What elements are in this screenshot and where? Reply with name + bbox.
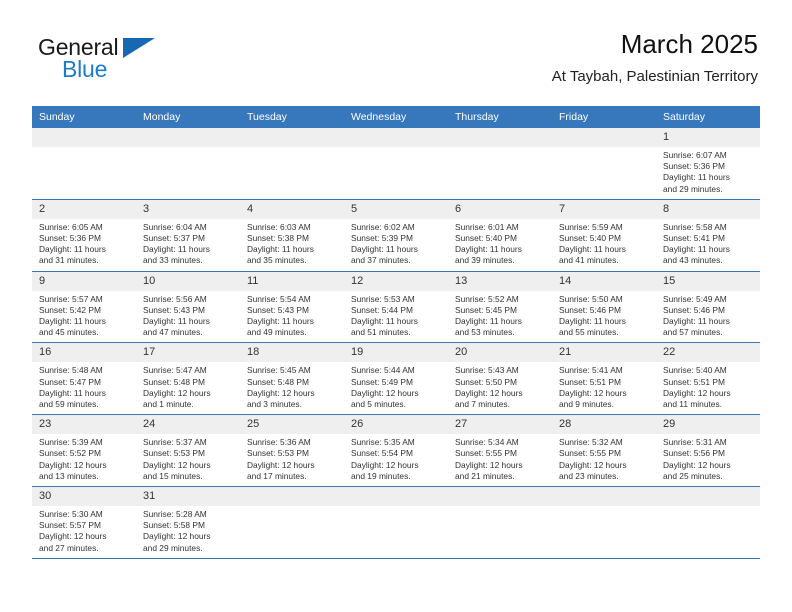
daylight-line-2: and 23 minutes. [559, 471, 650, 482]
daylight-line-1: Daylight: 11 hours [351, 244, 442, 255]
weekday-header-saturday: Saturday [656, 106, 760, 128]
page-header: General Blue March 2025 At Taybah, Pales… [34, 28, 758, 102]
day-number: 18 [240, 343, 344, 362]
day-number: 4 [240, 200, 344, 219]
daylight-line-1: Daylight: 12 hours [455, 460, 546, 471]
sunset-time: Sunset: 5:43 PM [143, 305, 234, 316]
sunrise-time: Sunrise: 5:39 AM [39, 437, 130, 448]
day-details: Sunrise: 6:02 AMSunset: 5:39 PMDaylight:… [344, 219, 448, 271]
daylight-line-2: and 31 minutes. [39, 255, 130, 266]
calendar-body: 1Sunrise: 6:07 AMSunset: 5:36 PMDaylight… [32, 128, 760, 558]
daylight-line-1: Daylight: 11 hours [39, 316, 130, 327]
daylight-line-2: and 41 minutes. [559, 255, 650, 266]
daylight-line-2: and 13 minutes. [39, 471, 130, 482]
daylight-line-1: Daylight: 11 hours [143, 316, 234, 327]
calendar-week-row: 9Sunrise: 5:57 AMSunset: 5:42 PMDaylight… [32, 271, 760, 343]
daylight-line-2: and 9 minutes. [559, 399, 650, 410]
page-title: March 2025 [552, 28, 758, 60]
day-number: 17 [136, 343, 240, 362]
sunset-time: Sunset: 5:46 PM [663, 305, 754, 316]
sunset-time: Sunset: 5:56 PM [663, 448, 754, 459]
day-number [448, 128, 552, 147]
calendar-day-cell[interactable]: 26Sunrise: 5:35 AMSunset: 5:54 PMDayligh… [344, 415, 448, 487]
day-details: Sunrise: 5:34 AMSunset: 5:55 PMDaylight:… [448, 434, 552, 486]
daylight-line-1: Daylight: 12 hours [247, 388, 338, 399]
calendar-day-cell[interactable]: 5Sunrise: 6:02 AMSunset: 5:39 PMDaylight… [344, 199, 448, 271]
sunrise-time: Sunrise: 5:35 AM [351, 437, 442, 448]
daylight-line-1: Daylight: 11 hours [143, 244, 234, 255]
sunset-time: Sunset: 5:36 PM [663, 161, 754, 172]
calendar-day-cell[interactable]: 24Sunrise: 5:37 AMSunset: 5:53 PMDayligh… [136, 415, 240, 487]
weekday-header-wednesday: Wednesday [344, 106, 448, 128]
calendar-day-cell[interactable]: 2Sunrise: 6:05 AMSunset: 5:36 PMDaylight… [32, 199, 136, 271]
sunset-time: Sunset: 5:51 PM [559, 377, 650, 388]
daylight-line-1: Daylight: 12 hours [351, 388, 442, 399]
day-number: 19 [344, 343, 448, 362]
sunset-time: Sunset: 5:44 PM [351, 305, 442, 316]
sunrise-time: Sunrise: 5:54 AM [247, 294, 338, 305]
calendar-day-cell[interactable]: 1Sunrise: 6:07 AMSunset: 5:36 PMDaylight… [656, 128, 760, 199]
daylight-line-1: Daylight: 12 hours [247, 460, 338, 471]
sunset-time: Sunset: 5:48 PM [247, 377, 338, 388]
sunrise-time: Sunrise: 5:53 AM [351, 294, 442, 305]
sunrise-time: Sunrise: 5:56 AM [143, 294, 234, 305]
day-number [344, 487, 448, 506]
sunset-time: Sunset: 5:55 PM [559, 448, 650, 459]
calendar-day-cell[interactable]: 13Sunrise: 5:52 AMSunset: 5:45 PMDayligh… [448, 271, 552, 343]
sunrise-time: Sunrise: 5:40 AM [663, 365, 754, 376]
calendar-week-row: 2Sunrise: 6:05 AMSunset: 5:36 PMDaylight… [32, 199, 760, 271]
daylight-line-1: Daylight: 12 hours [143, 531, 234, 542]
day-number: 5 [344, 200, 448, 219]
daylight-line-1: Daylight: 11 hours [663, 172, 754, 183]
day-details: Sunrise: 6:07 AMSunset: 5:36 PMDaylight:… [656, 147, 760, 199]
brand-name-blue: Blue [62, 56, 107, 83]
page-subtitle: At Taybah, Palestinian Territory [552, 66, 758, 88]
day-number: 13 [448, 272, 552, 291]
daylight-line-1: Daylight: 12 hours [351, 460, 442, 471]
sunset-time: Sunset: 5:36 PM [39, 233, 130, 244]
daylight-line-2: and 29 minutes. [143, 543, 234, 554]
day-number: 30 [32, 487, 136, 506]
daylight-line-1: Daylight: 11 hours [455, 316, 546, 327]
daylight-line-1: Daylight: 12 hours [559, 388, 650, 399]
sunset-time: Sunset: 5:49 PM [351, 377, 442, 388]
day-details: Sunrise: 5:31 AMSunset: 5:56 PMDaylight:… [656, 434, 760, 486]
day-details: Sunrise: 5:28 AMSunset: 5:58 PMDaylight:… [136, 506, 240, 558]
daylight-line-1: Daylight: 11 hours [247, 316, 338, 327]
day-details: Sunrise: 5:56 AMSunset: 5:43 PMDaylight:… [136, 291, 240, 343]
day-number [344, 128, 448, 147]
daylight-line-1: Daylight: 12 hours [143, 460, 234, 471]
sunset-time: Sunset: 5:52 PM [39, 448, 130, 459]
sunrise-time: Sunrise: 5:58 AM [663, 222, 754, 233]
sunrise-time: Sunrise: 5:31 AM [663, 437, 754, 448]
daylight-line-1: Daylight: 11 hours [39, 244, 130, 255]
sunset-time: Sunset: 5:50 PM [455, 377, 546, 388]
calendar-day-cell[interactable]: 25Sunrise: 5:36 AMSunset: 5:53 PMDayligh… [240, 415, 344, 487]
calendar-day-cell[interactable]: 28Sunrise: 5:32 AMSunset: 5:55 PMDayligh… [552, 415, 656, 487]
daylight-line-2: and 29 minutes. [663, 184, 754, 195]
calendar-week-row: 1Sunrise: 6:07 AMSunset: 5:36 PMDaylight… [32, 128, 760, 199]
calendar-day-cell[interactable]: 21Sunrise: 5:41 AMSunset: 5:51 PMDayligh… [552, 343, 656, 415]
calendar-day-cell-empty [552, 128, 656, 199]
day-number: 6 [448, 200, 552, 219]
weekday-header-monday: Monday [136, 106, 240, 128]
calendar-day-cell-empty [136, 128, 240, 199]
sunrise-time: Sunrise: 5:32 AM [559, 437, 650, 448]
day-number [448, 487, 552, 506]
day-details: Sunrise: 5:48 AMSunset: 5:47 PMDaylight:… [32, 362, 136, 414]
day-number: 27 [448, 415, 552, 434]
daylight-line-1: Daylight: 11 hours [559, 244, 650, 255]
sunset-time: Sunset: 5:51 PM [663, 377, 754, 388]
day-number: 2 [32, 200, 136, 219]
day-number [656, 487, 760, 506]
day-details: Sunrise: 5:37 AMSunset: 5:53 PMDaylight:… [136, 434, 240, 486]
sunrise-time: Sunrise: 6:03 AM [247, 222, 338, 233]
calendar-day-cell-empty [552, 487, 656, 559]
daylight-line-2: and 55 minutes. [559, 327, 650, 338]
day-number [552, 128, 656, 147]
calendar-day-cell-empty [448, 487, 552, 559]
calendar-day-cell[interactable]: 29Sunrise: 5:31 AMSunset: 5:56 PMDayligh… [656, 415, 760, 487]
daylight-line-1: Daylight: 12 hours [663, 460, 754, 471]
calendar-day-cell[interactable]: 17Sunrise: 5:47 AMSunset: 5:48 PMDayligh… [136, 343, 240, 415]
calendar-day-cell-empty [240, 487, 344, 559]
brand-logo[interactable]: General Blue [38, 34, 218, 90]
day-details: Sunrise: 5:47 AMSunset: 5:48 PMDaylight:… [136, 362, 240, 414]
calendar-day-cell[interactable]: 12Sunrise: 5:53 AMSunset: 5:44 PMDayligh… [344, 271, 448, 343]
day-number: 12 [344, 272, 448, 291]
day-number: 11 [240, 272, 344, 291]
daylight-line-2: and 5 minutes. [351, 399, 442, 410]
calendar-week-row: 23Sunrise: 5:39 AMSunset: 5:52 PMDayligh… [32, 415, 760, 487]
sunset-time: Sunset: 5:40 PM [559, 233, 650, 244]
calendar-day-cell[interactable]: 7Sunrise: 5:59 AMSunset: 5:40 PMDaylight… [552, 199, 656, 271]
daylight-line-2: and 37 minutes. [351, 255, 442, 266]
daylight-line-1: Daylight: 11 hours [559, 316, 650, 327]
daylight-line-1: Daylight: 12 hours [455, 388, 546, 399]
sunrise-time: Sunrise: 5:47 AM [143, 365, 234, 376]
day-number: 26 [344, 415, 448, 434]
sunrise-time: Sunrise: 6:04 AM [143, 222, 234, 233]
sunset-time: Sunset: 5:48 PM [143, 377, 234, 388]
calendar-day-cell[interactable]: 20Sunrise: 5:43 AMSunset: 5:50 PMDayligh… [448, 343, 552, 415]
calendar-day-cell-empty [448, 128, 552, 199]
calendar-week-row: 30Sunrise: 5:30 AMSunset: 5:57 PMDayligh… [32, 487, 760, 559]
daylight-line-1: Daylight: 11 hours [247, 244, 338, 255]
day-details: Sunrise: 6:01 AMSunset: 5:40 PMDaylight:… [448, 219, 552, 271]
calendar-day-cell[interactable]: 16Sunrise: 5:48 AMSunset: 5:47 PMDayligh… [32, 343, 136, 415]
sunrise-time: Sunrise: 6:01 AM [455, 222, 546, 233]
calendar-day-cell[interactable]: 10Sunrise: 5:56 AMSunset: 5:43 PMDayligh… [136, 271, 240, 343]
sunset-time: Sunset: 5:54 PM [351, 448, 442, 459]
calendar-day-cell[interactable]: 31Sunrise: 5:28 AMSunset: 5:58 PMDayligh… [136, 487, 240, 559]
sunset-time: Sunset: 5:40 PM [455, 233, 546, 244]
daylight-line-2: and 43 minutes. [663, 255, 754, 266]
calendar-day-cell[interactable]: 30Sunrise: 5:30 AMSunset: 5:57 PMDayligh… [32, 487, 136, 559]
sunrise-time: Sunrise: 5:28 AM [143, 509, 234, 520]
day-number: 14 [552, 272, 656, 291]
daylight-line-2: and 15 minutes. [143, 471, 234, 482]
sunset-time: Sunset: 5:55 PM [455, 448, 546, 459]
day-number: 25 [240, 415, 344, 434]
weekday-header-friday: Friday [552, 106, 656, 128]
calendar-day-cell[interactable]: 18Sunrise: 5:45 AMSunset: 5:48 PMDayligh… [240, 343, 344, 415]
calendar-day-cell[interactable]: 11Sunrise: 5:54 AMSunset: 5:43 PMDayligh… [240, 271, 344, 343]
day-number [240, 128, 344, 147]
sunrise-time: Sunrise: 5:48 AM [39, 365, 130, 376]
daylight-line-1: Daylight: 12 hours [663, 388, 754, 399]
sunrise-time: Sunrise: 5:52 AM [455, 294, 546, 305]
daylight-line-2: and 53 minutes. [455, 327, 546, 338]
sunrise-time: Sunrise: 5:59 AM [559, 222, 650, 233]
day-number: 7 [552, 200, 656, 219]
daylight-line-2: and 25 minutes. [663, 471, 754, 482]
daylight-line-2: and 59 minutes. [39, 399, 130, 410]
sunrise-time: Sunrise: 6:02 AM [351, 222, 442, 233]
day-details: Sunrise: 5:30 AMSunset: 5:57 PMDaylight:… [32, 506, 136, 558]
daylight-line-2: and 45 minutes. [39, 327, 130, 338]
sunrise-time: Sunrise: 6:07 AM [663, 150, 754, 161]
day-number: 10 [136, 272, 240, 291]
sunset-time: Sunset: 5:37 PM [143, 233, 234, 244]
day-number: 20 [448, 343, 552, 362]
day-number [136, 128, 240, 147]
sunrise-time: Sunrise: 5:45 AM [247, 365, 338, 376]
day-details: Sunrise: 5:35 AMSunset: 5:54 PMDaylight:… [344, 434, 448, 486]
day-number: 16 [32, 343, 136, 362]
day-details: Sunrise: 5:59 AMSunset: 5:40 PMDaylight:… [552, 219, 656, 271]
calendar-day-cell-empty [344, 487, 448, 559]
daylight-line-2: and 49 minutes. [247, 327, 338, 338]
calendar-day-cell[interactable]: 23Sunrise: 5:39 AMSunset: 5:52 PMDayligh… [32, 415, 136, 487]
day-details: Sunrise: 6:04 AMSunset: 5:37 PMDaylight:… [136, 219, 240, 271]
daylight-line-2: and 47 minutes. [143, 327, 234, 338]
day-number [552, 487, 656, 506]
calendar-day-cell[interactable]: 8Sunrise: 5:58 AMSunset: 5:41 PMDaylight… [656, 199, 760, 271]
sunset-time: Sunset: 5:39 PM [351, 233, 442, 244]
daylight-line-2: and 39 minutes. [455, 255, 546, 266]
day-number: 9 [32, 272, 136, 291]
calendar-day-cell[interactable]: 27Sunrise: 5:34 AMSunset: 5:55 PMDayligh… [448, 415, 552, 487]
calendar-day-cell-empty [240, 128, 344, 199]
sunset-time: Sunset: 5:47 PM [39, 377, 130, 388]
daylight-line-2: and 17 minutes. [247, 471, 338, 482]
calendar-day-cell[interactable]: 4Sunrise: 6:03 AMSunset: 5:38 PMDaylight… [240, 199, 344, 271]
daylight-line-1: Daylight: 12 hours [39, 531, 130, 542]
sunrise-time: Sunrise: 5:50 AM [559, 294, 650, 305]
daylight-line-1: Daylight: 12 hours [559, 460, 650, 471]
day-details: Sunrise: 6:05 AMSunset: 5:36 PMDaylight:… [32, 219, 136, 271]
calendar-day-cell-empty [32, 128, 136, 199]
calendar-day-cell-empty [344, 128, 448, 199]
sunset-time: Sunset: 5:46 PM [559, 305, 650, 316]
sunrise-time: Sunrise: 6:05 AM [39, 222, 130, 233]
day-number: 31 [136, 487, 240, 506]
day-details: Sunrise: 5:41 AMSunset: 5:51 PMDaylight:… [552, 362, 656, 414]
daylight-line-2: and 19 minutes. [351, 471, 442, 482]
day-number: 15 [656, 272, 760, 291]
day-details: Sunrise: 5:50 AMSunset: 5:46 PMDaylight:… [552, 291, 656, 343]
sunset-time: Sunset: 5:38 PM [247, 233, 338, 244]
day-number: 3 [136, 200, 240, 219]
daylight-line-2: and 1 minute. [143, 399, 234, 410]
day-details: Sunrise: 5:44 AMSunset: 5:49 PMDaylight:… [344, 362, 448, 414]
day-number: 1 [656, 128, 760, 147]
sunset-time: Sunset: 5:42 PM [39, 305, 130, 316]
calendar-page: General Blue March 2025 At Taybah, Pales… [0, 0, 792, 612]
day-number [32, 128, 136, 147]
weekday-header-sunday: Sunday [32, 106, 136, 128]
weekday-header-thursday: Thursday [448, 106, 552, 128]
daylight-line-1: Daylight: 12 hours [39, 460, 130, 471]
calendar-day-cell[interactable]: 19Sunrise: 5:44 AMSunset: 5:49 PMDayligh… [344, 343, 448, 415]
calendar-day-cell[interactable]: 22Sunrise: 5:40 AMSunset: 5:51 PMDayligh… [656, 343, 760, 415]
calendar-day-cell[interactable]: 6Sunrise: 6:01 AMSunset: 5:40 PMDaylight… [448, 199, 552, 271]
daylight-line-2: and 51 minutes. [351, 327, 442, 338]
sunrise-time: Sunrise: 5:44 AM [351, 365, 442, 376]
sunrise-time: Sunrise: 5:34 AM [455, 437, 546, 448]
day-details: Sunrise: 5:57 AMSunset: 5:42 PMDaylight:… [32, 291, 136, 343]
day-details: Sunrise: 5:36 AMSunset: 5:53 PMDaylight:… [240, 434, 344, 486]
day-details: Sunrise: 5:53 AMSunset: 5:44 PMDaylight:… [344, 291, 448, 343]
daylight-line-2: and 33 minutes. [143, 255, 234, 266]
calendar-day-cell[interactable]: 9Sunrise: 5:57 AMSunset: 5:42 PMDaylight… [32, 271, 136, 343]
day-details: Sunrise: 5:49 AMSunset: 5:46 PMDaylight:… [656, 291, 760, 343]
daylight-line-1: Daylight: 11 hours [663, 244, 754, 255]
calendar-day-cell-empty [656, 487, 760, 559]
day-number: 28 [552, 415, 656, 434]
daylight-line-1: Daylight: 11 hours [351, 316, 442, 327]
sunrise-time: Sunrise: 5:37 AM [143, 437, 234, 448]
triangle-flag-icon [123, 38, 155, 58]
sunrise-time: Sunrise: 5:41 AM [559, 365, 650, 376]
sunset-time: Sunset: 5:45 PM [455, 305, 546, 316]
calendar-day-cell[interactable]: 15Sunrise: 5:49 AMSunset: 5:46 PMDayligh… [656, 271, 760, 343]
daylight-line-1: Daylight: 11 hours [455, 244, 546, 255]
calendar-day-cell[interactable]: 3Sunrise: 6:04 AMSunset: 5:37 PMDaylight… [136, 199, 240, 271]
day-details: Sunrise: 5:52 AMSunset: 5:45 PMDaylight:… [448, 291, 552, 343]
day-details: Sunrise: 5:43 AMSunset: 5:50 PMDaylight:… [448, 362, 552, 414]
day-number: 29 [656, 415, 760, 434]
sunrise-time: Sunrise: 5:30 AM [39, 509, 130, 520]
sunset-time: Sunset: 5:53 PM [143, 448, 234, 459]
day-details: Sunrise: 5:32 AMSunset: 5:55 PMDaylight:… [552, 434, 656, 486]
sunrise-time: Sunrise: 5:43 AM [455, 365, 546, 376]
sunrise-time: Sunrise: 5:49 AM [663, 294, 754, 305]
daylight-line-2: and 3 minutes. [247, 399, 338, 410]
day-details: Sunrise: 5:58 AMSunset: 5:41 PMDaylight:… [656, 219, 760, 271]
sunset-time: Sunset: 5:57 PM [39, 520, 130, 531]
daylight-line-2: and 57 minutes. [663, 327, 754, 338]
weekday-header-tuesday: Tuesday [240, 106, 344, 128]
daylight-line-2: and 27 minutes. [39, 543, 130, 554]
title-block: March 2025 At Taybah, Palestinian Territ… [552, 28, 758, 88]
daylight-line-2: and 7 minutes. [455, 399, 546, 410]
day-number: 24 [136, 415, 240, 434]
day-number: 23 [32, 415, 136, 434]
sunrise-time: Sunrise: 5:57 AM [39, 294, 130, 305]
daylight-line-1: Daylight: 11 hours [39, 388, 130, 399]
calendar-day-cell[interactable]: 14Sunrise: 5:50 AMSunset: 5:46 PMDayligh… [552, 271, 656, 343]
sunset-time: Sunset: 5:41 PM [663, 233, 754, 244]
day-details: Sunrise: 5:45 AMSunset: 5:48 PMDaylight:… [240, 362, 344, 414]
daylight-line-2: and 11 minutes. [663, 399, 754, 410]
day-details: Sunrise: 6:03 AMSunset: 5:38 PMDaylight:… [240, 219, 344, 271]
day-details: Sunrise: 5:54 AMSunset: 5:43 PMDaylight:… [240, 291, 344, 343]
day-number: 21 [552, 343, 656, 362]
daylight-line-2: and 21 minutes. [455, 471, 546, 482]
day-number: 8 [656, 200, 760, 219]
sunrise-time: Sunrise: 5:36 AM [247, 437, 338, 448]
day-number: 22 [656, 343, 760, 362]
day-details: Sunrise: 5:39 AMSunset: 5:52 PMDaylight:… [32, 434, 136, 486]
sunset-time: Sunset: 5:53 PM [247, 448, 338, 459]
daylight-line-2: and 35 minutes. [247, 255, 338, 266]
daylight-line-1: Daylight: 12 hours [143, 388, 234, 399]
weekday-header-row: Sunday Monday Tuesday Wednesday Thursday… [32, 106, 760, 128]
sunset-time: Sunset: 5:43 PM [247, 305, 338, 316]
day-number [240, 487, 344, 506]
daylight-line-1: Daylight: 11 hours [663, 316, 754, 327]
calendar-grid: Sunday Monday Tuesday Wednesday Thursday… [32, 106, 760, 559]
calendar-week-row: 16Sunrise: 5:48 AMSunset: 5:47 PMDayligh… [32, 343, 760, 415]
day-details: Sunrise: 5:40 AMSunset: 5:51 PMDaylight:… [656, 362, 760, 414]
sunset-time: Sunset: 5:58 PM [143, 520, 234, 531]
